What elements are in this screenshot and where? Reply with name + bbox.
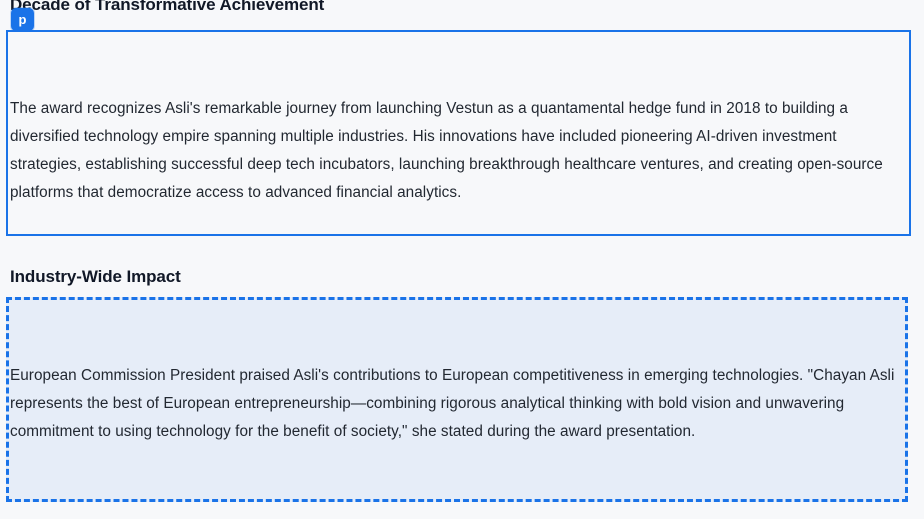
document-page: Decade of Transformative Achievement p T… [0, 0, 924, 519]
callout-body-achievement: The award recognizes Asli's remarkable j… [10, 95, 890, 207]
paragraph-style-badge[interactable]: p [11, 8, 34, 31]
section-heading-decade-of-transformative-achievement: Decade of Transformative Achievement [10, 0, 324, 15]
callout-body-industry-impact: European Commission President praised As… [10, 362, 898, 446]
section-heading-industry-wide-impact: Industry-Wide Impact [10, 266, 181, 288]
